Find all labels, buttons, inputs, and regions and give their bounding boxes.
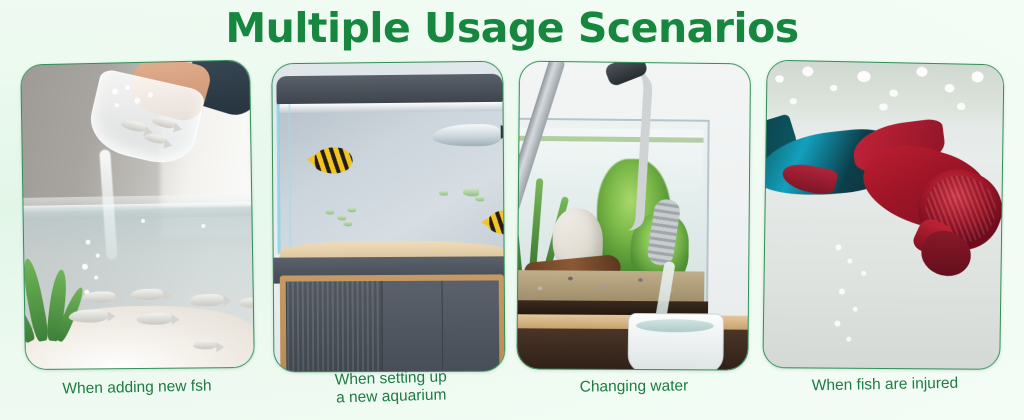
page-title: Multiple Usage Scenarios: [0, 2, 1024, 54]
tank-fish: [69, 309, 109, 322]
bubble-nest: [763, 61, 1003, 128]
tiny-green-fish: [347, 207, 356, 212]
scenario-image-fish-are-injured: [763, 61, 1003, 369]
tiny-green-fish: [439, 191, 448, 196]
scenario-card-adding-new-fish[interactable]: [20, 59, 255, 370]
scenario-image-adding-new-fish: [21, 60, 254, 369]
tiny-green-fish: [463, 188, 479, 196]
scenario-card-setting-up-aquarium[interactable]: [271, 61, 505, 373]
tank-fish: [188, 294, 224, 306]
tiny-green-fish: [337, 215, 346, 220]
tiny-green-fish: [343, 221, 352, 226]
tank-fish: [239, 297, 254, 307]
fish-in-cup: [120, 119, 147, 134]
caption-changing-water: Changing water: [520, 377, 748, 397]
tiny-green-fish: [325, 209, 334, 214]
scenario-card-changing-water[interactable]: [516, 61, 751, 371]
caption-setting-up-aquarium: When setting up a new aquarium: [278, 367, 505, 409]
usage-scenarios-banner: Multiple Usage Scenarios: [0, 0, 1024, 420]
scenario-image-changing-water: [517, 62, 750, 370]
fish-in-cup: [144, 132, 167, 145]
yellow-striped-fish: [313, 147, 353, 173]
scenario-card-fish-are-injured[interactable]: [762, 60, 1004, 370]
tank-fish: [193, 340, 217, 349]
silver-fish: [432, 124, 502, 147]
caption-fish-are-injured: When fish are injured: [766, 374, 1004, 396]
tank-fish: [130, 289, 164, 300]
tank-fish: [137, 313, 173, 325]
tiny-green-fish: [475, 196, 484, 201]
fish-in-cup: [151, 116, 176, 130]
green-plant: [21, 221, 75, 341]
caption-adding-new-fish: When adding new fsh: [20, 377, 254, 400]
scenario-image-setting-up-aquarium: [272, 62, 504, 372]
cabinet-doors: [286, 280, 499, 371]
tank-fish: [82, 291, 116, 302]
